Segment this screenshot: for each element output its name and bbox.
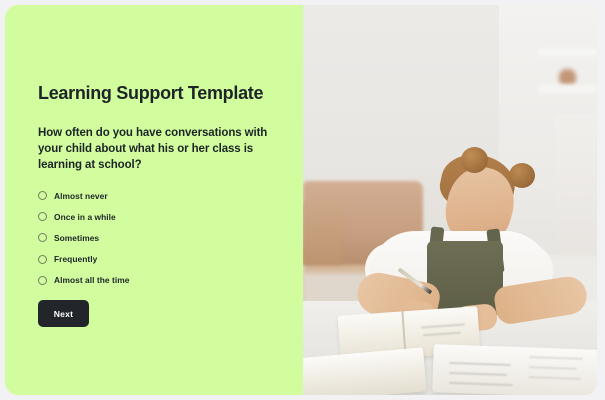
survey-card: Learning Support Template How often do y… bbox=[5, 5, 597, 395]
photo-girl-bun-right bbox=[509, 163, 535, 188]
photo-shelf-upper bbox=[539, 49, 597, 56]
radio-circle-icon[interactable] bbox=[38, 276, 47, 285]
radio-circle-icon[interactable] bbox=[38, 233, 47, 242]
photo-shelf-lower bbox=[539, 85, 597, 93]
radio-option-label: Almost all the time bbox=[54, 275, 129, 285]
photo-sofa-arm bbox=[303, 201, 343, 265]
form-panel: Learning Support Template How often do y… bbox=[5, 5, 303, 395]
screenshot-root: Learning Support Template How often do y… bbox=[0, 0, 605, 400]
radio-option-sometimes[interactable]: Sometimes bbox=[38, 227, 278, 248]
radio-option-almost-all-the-time[interactable]: Almost all the time bbox=[38, 270, 278, 291]
radio-option-label: Almost never bbox=[54, 191, 108, 201]
radio-option-label: Sometimes bbox=[54, 233, 99, 243]
next-button[interactable]: Next bbox=[38, 300, 89, 327]
girl-studying-photo bbox=[303, 5, 597, 395]
radio-option-label: Once in a while bbox=[54, 212, 116, 222]
radio-group: Almost never Once in a while Sometimes F… bbox=[38, 185, 278, 291]
radio-option-frequently[interactable]: Frequently bbox=[38, 249, 278, 270]
radio-option-label: Frequently bbox=[54, 254, 97, 264]
page-title: Learning Support Template bbox=[38, 83, 263, 105]
radio-circle-icon[interactable] bbox=[38, 191, 47, 200]
photo-cabinet bbox=[555, 115, 597, 255]
radio-circle-icon[interactable] bbox=[38, 255, 47, 264]
radio-circle-icon[interactable] bbox=[38, 212, 47, 221]
photo-girl-bun-left bbox=[461, 147, 488, 173]
question-text: How often do you have conversations with… bbox=[38, 126, 276, 173]
radio-option-once-in-a-while[interactable]: Once in a while bbox=[38, 206, 278, 227]
radio-option-almost-never[interactable]: Almost never bbox=[38, 185, 278, 206]
photo-vase bbox=[559, 69, 576, 85]
